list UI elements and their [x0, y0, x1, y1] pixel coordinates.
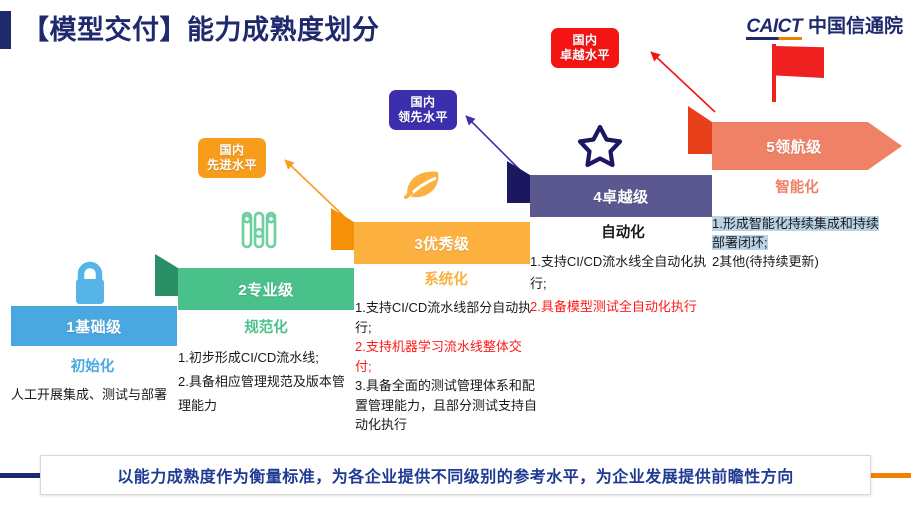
level-4-bar: 4卓越级	[530, 175, 712, 217]
star-icon	[576, 122, 624, 170]
level-3-body-line-2: 2.支持机器学习流水线整体交付;	[355, 337, 537, 376]
level-3-subtitle: 系统化	[355, 268, 537, 289]
level-5-body-line-1: 1.形成智能化持续集成和持续部署闭环;	[712, 215, 882, 253]
level-5-body-line-1-text: 1.形成智能化持续集成和持续部署闭环;	[712, 216, 879, 250]
level-5-column: 智能化 1.形成智能化持续集成和持续部署闭环; 2其他(待持续更新)	[712, 176, 882, 272]
footer-banner: 以能力成熟度作为衡量标准，为各企业提供不同级别的参考水平，为企业发展提供前瞻性方…	[40, 455, 871, 495]
level-4-step-side	[507, 161, 530, 203]
level-1-body: 人工开展集成、测试与部署	[11, 385, 174, 405]
level-2-subtitle: 规范化	[178, 316, 354, 337]
level-3-step[interactable]: 3优秀级	[354, 222, 530, 264]
footer-text: 以能力成熟度作为衡量标准，为各企业提供不同级别的参考水平，为企业发展提供前瞻性方…	[117, 463, 794, 487]
level-2-step[interactable]: 2专业级	[178, 268, 354, 310]
level-2-bar: 2专业级	[178, 268, 354, 310]
level-4-step[interactable]: 4卓越级	[530, 175, 712, 217]
level-1-subtitle: 初始化	[11, 355, 174, 376]
level-3-body-line-3: 3.具备全面的测试管理体系和配置管理能力，且部分测试支持自动化执行	[355, 376, 537, 435]
level-5-step[interactable]: 5领航级	[712, 122, 902, 170]
footer-rule-left	[0, 473, 44, 478]
lock-icon	[68, 258, 112, 306]
level-3-body: 1.支持CI/CD流水线部分自动执行; 2.支持机器学习流水线整体交付; 3.具…	[355, 298, 537, 435]
level-5-bar: 5领航级	[712, 122, 902, 170]
badge-advanced-line2: 先进水平	[207, 158, 257, 173]
level-4-column: 自动化 1.支持CI/CD流水线全自动化执行; 2.具备模型测试全自动化执行	[530, 221, 716, 318]
level-5-subtitle: 智能化	[712, 176, 882, 197]
badge-excellent-line1: 国内	[560, 33, 610, 48]
level-1-column: 初始化 人工开展集成、测试与部署	[11, 355, 174, 405]
level-2-step-side	[155, 254, 178, 296]
level-3-body-line-1: 1.支持CI/CD流水线部分自动执行;	[355, 298, 537, 337]
badge-excellent-line2: 卓越水平	[560, 48, 610, 63]
level-5-step-side	[688, 106, 712, 154]
level-2-column: 规范化 1.初步形成CI/CD流水线; 2.具备相应管理规范及版本管理能力	[178, 316, 354, 418]
logo-abbr: CAICT	[746, 17, 802, 40]
level-4-body-line-2: 2.具备模型测试全自动化执行	[530, 296, 716, 318]
logo-name: 中国信通院	[808, 17, 903, 40]
badge-advanced-line1: 国内	[207, 143, 257, 158]
level-1-step[interactable]: 1基础级	[11, 306, 177, 346]
badge-advanced[interactable]: 国内 先进水平	[198, 138, 266, 178]
level-3-label: 3优秀级	[414, 233, 469, 254]
page-title: 【模型交付】能力成熟度划分	[22, 8, 380, 47]
level-2-body: 1.初步形成CI/CD流水线; 2.具备相应管理规范及版本管理能力	[178, 346, 354, 418]
level-3-column: 系统化 1.支持CI/CD流水线部分自动执行; 2.支持机器学习流水线整体交付;…	[355, 268, 537, 435]
level-4-subtitle: 自动化	[530, 221, 716, 242]
badge-leading-line1: 国内	[398, 95, 448, 110]
level-4-body: 1.支持CI/CD流水线全自动化执行; 2.具备模型测试全自动化执行	[530, 251, 716, 318]
level-5-body-line-2: 2其他(待持续更新)	[712, 253, 882, 272]
level-5-body: 1.形成智能化持续集成和持续部署闭环; 2其他(待持续更新)	[712, 215, 882, 272]
slide-canvas: 【模型交付】能力成熟度划分 CAICT 中国信通院 国内 先进水平 国内	[0, 0, 911, 510]
level-1-label: 1基础级	[66, 316, 121, 337]
sliders-icon	[237, 209, 281, 253]
red-flag-icon	[772, 44, 828, 102]
flag-cloth	[776, 46, 824, 78]
level-4-body-line-1: 1.支持CI/CD流水线全自动化执行;	[530, 251, 716, 296]
level-5-label: 5领航级	[766, 136, 821, 157]
leaf-icon	[400, 163, 446, 205]
level-1-body-line-1: 人工开展集成、测试与部署	[11, 385, 174, 405]
badge-leading-line2: 领先水平	[398, 110, 448, 125]
footer-rule-right	[867, 473, 911, 478]
level-4-label: 4卓越级	[593, 186, 648, 207]
level-3-step-side	[331, 208, 354, 250]
level-2-label: 2专业级	[238, 279, 293, 300]
level-1-bar: 1基础级	[11, 306, 177, 346]
level-2-body-line-2: 2.具备相应管理规范及版本管理能力	[178, 370, 354, 418]
level-2-body-line-1: 1.初步形成CI/CD流水线;	[178, 346, 354, 370]
title-accent-bar	[0, 11, 11, 49]
badge-leading[interactable]: 国内 领先水平	[389, 90, 457, 130]
level-3-bar: 3优秀级	[354, 222, 530, 264]
caict-logo: CAICT 中国信通院	[746, 14, 903, 40]
flag-pole	[772, 44, 776, 102]
badge-excellent[interactable]: 国内 卓越水平	[551, 28, 619, 68]
